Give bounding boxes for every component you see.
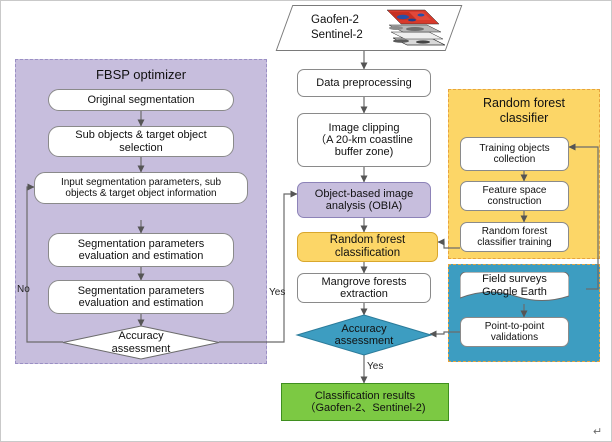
node-mangrove-extraction-label: Mangrove forests extraction — [322, 276, 407, 301]
node-input-segmentation-parameters-label: Input segmentation parameters, sub objec… — [61, 177, 221, 199]
edge-label-yes-fbsp: Yes — [269, 287, 285, 298]
node-original-segmentation[interactable]: Original segmentation — [48, 89, 234, 111]
node-mangrove-extraction[interactable]: Mangrove forests extraction — [297, 273, 431, 303]
node-point-to-point-validations[interactable]: Point-to-point validations — [460, 317, 569, 347]
node-segmentation-evaluation-1[interactable]: Segmentation parameters evaluation and e… — [48, 233, 234, 267]
node-classification-results-label: Classification results （Gaofen-2、Sentine… — [304, 390, 425, 415]
node-segmentation-evaluation-2[interactable]: Segmentation parameters evaluation and e… — [48, 280, 234, 314]
node-random-forest-classifier-training[interactable]: Random forest classifier training — [460, 222, 569, 252]
group-rf-title-line2: classifier — [449, 111, 599, 125]
node-original-segmentation-label: Original segmentation — [87, 94, 194, 106]
node-sub-objects-selection[interactable]: Sub objects & target object selection — [48, 126, 234, 157]
node-random-forest-classifier-training-label: Random forest classifier training — [477, 226, 551, 248]
node-segmentation-evaluation-2-label: Segmentation parameters evaluation and e… — [78, 285, 205, 310]
node-obia[interactable]: Object-based image analysis (OBIA) — [297, 182, 431, 218]
node-random-forest-classification[interactable]: Random forest classification — [297, 232, 438, 262]
node-field-surveys-google-earth[interactable]: Field surveys Google Earth — [460, 272, 569, 306]
node-data-preprocessing-label: Data preprocessing — [316, 77, 411, 89]
satellite-image-stack-icon — [379, 8, 451, 48]
node-sub-objects-selection-label: Sub objects & target object selection — [75, 129, 206, 154]
paragraph-return-mark: ↵ — [593, 425, 602, 438]
node-obia-label: Object-based image analysis (OBIA) — [315, 188, 413, 213]
node-accuracy-assessment-main[interactable]: Accuracy assessment — [297, 315, 431, 355]
node-image-clipping-label: Image clipping （A 20-km coastline buffer… — [315, 122, 413, 159]
node-input-segmentation-parameters[interactable]: Input segmentation parameters, sub objec… — [34, 172, 248, 204]
edge-label-yes-result: Yes — [367, 361, 383, 372]
node-training-objects-collection-label: Training objects collection — [479, 143, 549, 165]
node-accuracy-assessment-fbsp[interactable]: Accuracy assessment — [63, 326, 219, 359]
node-training-objects-collection[interactable]: Training objects collection — [460, 137, 569, 171]
edge-label-no: No — [17, 284, 30, 295]
group-rf-title-line1: Random forest — [449, 96, 599, 110]
node-classification-results[interactable]: Classification results （Gaofen-2、Sentine… — [281, 383, 449, 421]
flowchart-canvas: FBSP optimizer Random forest classifier — [0, 0, 612, 442]
node-field-surveys-google-earth-label: Field surveys Google Earth — [460, 272, 569, 300]
node-point-to-point-validations-label: Point-to-point validations — [485, 321, 544, 343]
node-image-clipping[interactable]: Image clipping （A 20-km coastline buffer… — [297, 113, 431, 167]
node-feature-space-construction[interactable]: Feature space construction — [460, 181, 569, 211]
node-feature-space-construction-label: Feature space construction — [483, 185, 547, 207]
group-fbsp-title: FBSP optimizer — [16, 68, 266, 83]
node-random-forest-classification-label: Random forest classification — [330, 234, 405, 260]
node-data-preprocessing[interactable]: Data preprocessing — [297, 69, 431, 97]
node-segmentation-evaluation-1-label: Segmentation parameters evaluation and e… — [78, 238, 205, 263]
